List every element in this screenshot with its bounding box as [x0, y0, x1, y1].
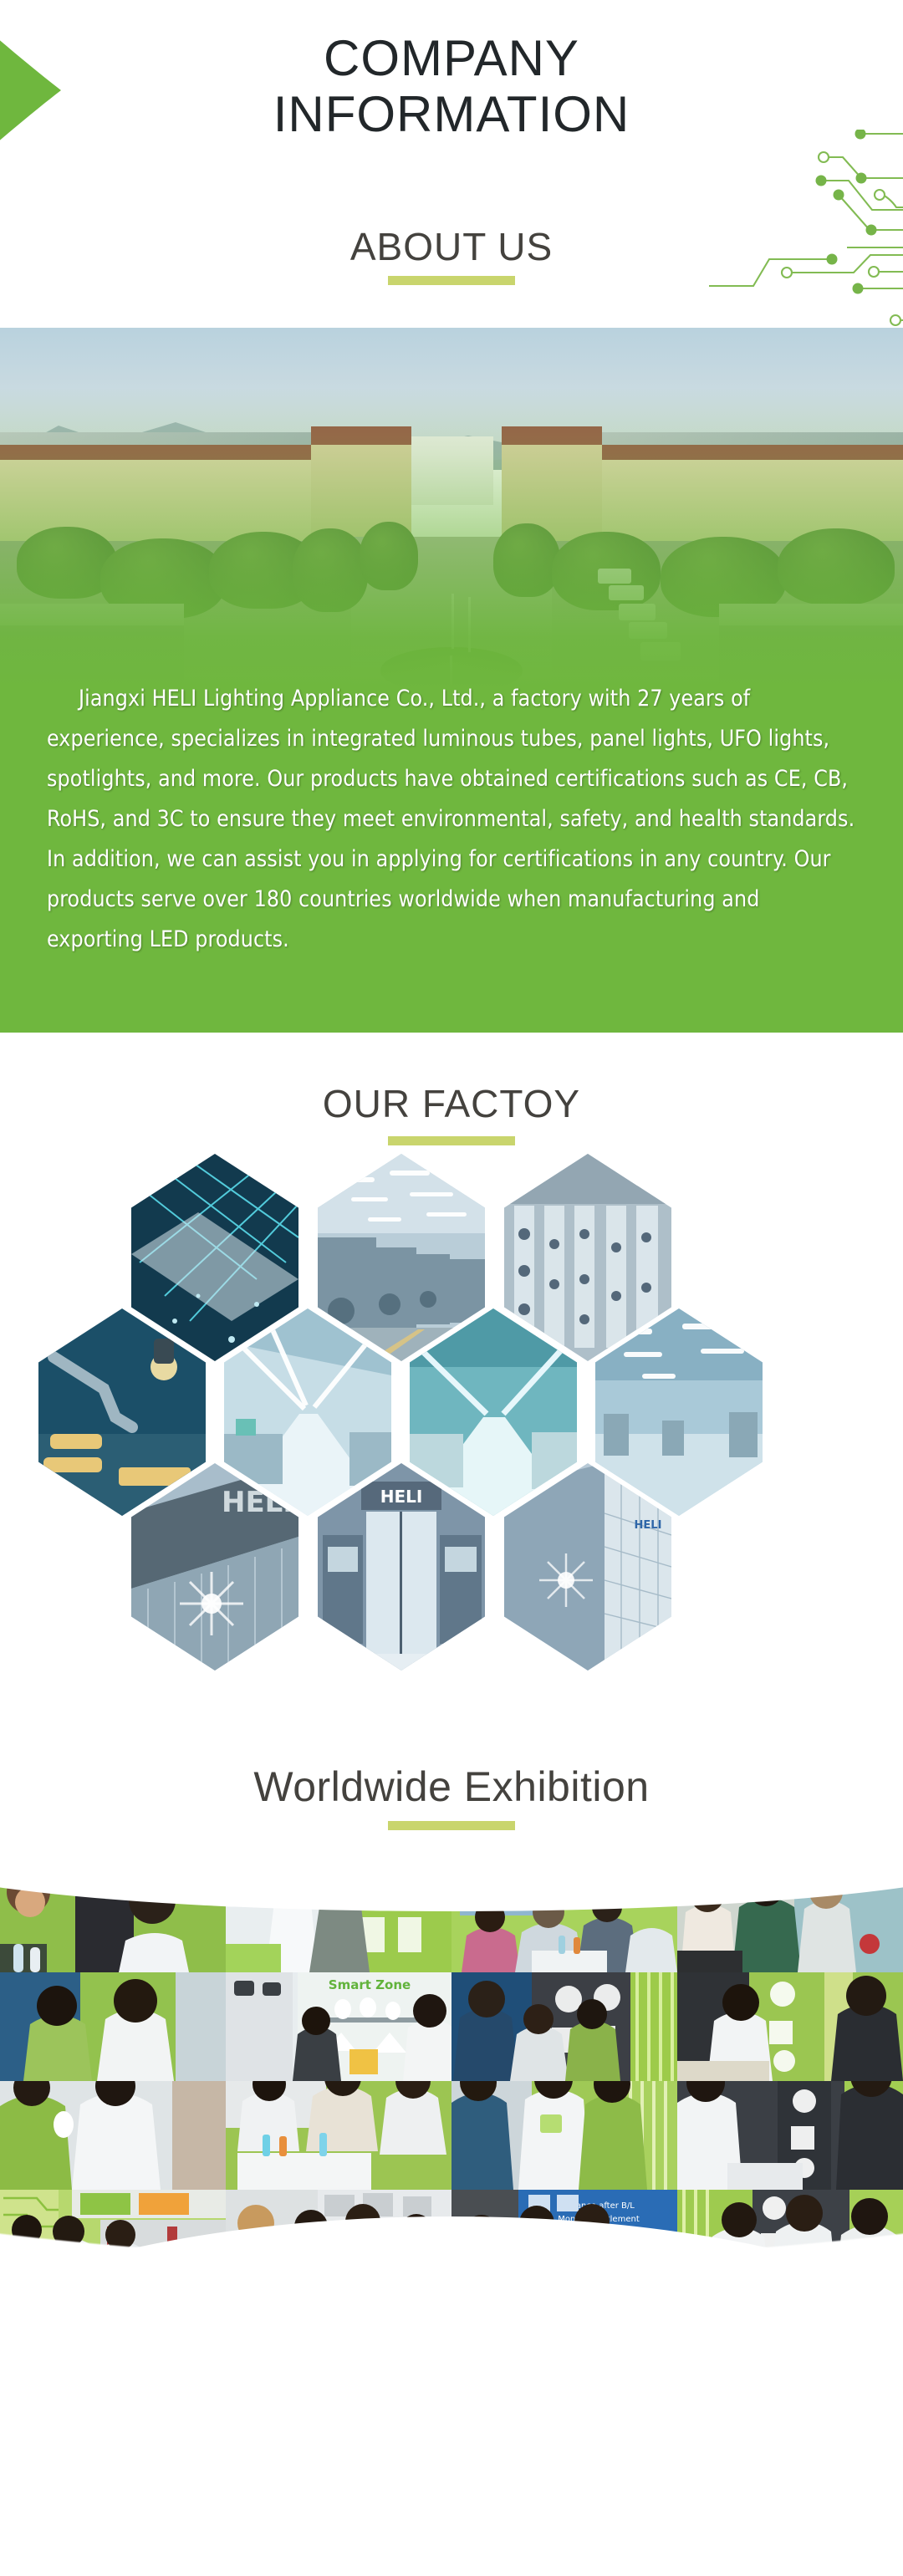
panel-light-wall-demo-image	[451, 1972, 677, 2081]
hex-tile-5[interactable]	[224, 1308, 391, 1516]
about-us-heading-text: ABOUT US	[0, 227, 903, 266]
hex-tile-4[interactable]	[38, 1308, 206, 1516]
exhibition-photo[interactable]	[0, 1972, 226, 2081]
exhibition-photo[interactable]: Smart Zone	[226, 1972, 451, 2081]
exhibition-photo[interactable]	[677, 2081, 903, 2190]
led-assembly-line-night-image	[131, 1154, 298, 1361]
page-title: COMPANY INFORMATION	[0, 30, 903, 142]
hex-tile-1[interactable]	[131, 1154, 298, 1361]
factory-heading-text: OUR FACTOY	[0, 1081, 903, 1126]
factory-heading: OUR FACTOY	[0, 1033, 903, 1145]
exhibition-section: Worldwide Exhibition	[0, 1754, 903, 2300]
exhibition-photo[interactable]	[677, 1972, 903, 2081]
exhibition-photo[interactable]	[0, 2081, 226, 2190]
booth-desk-discussion-image	[677, 1972, 903, 2081]
two-visitors-chatting-image	[0, 1972, 226, 2081]
hexagon-gallery: HELI HELI	[0, 1154, 903, 1706]
heli-office-building-sunflare-image: HELI	[131, 1463, 298, 1671]
exhibition-photo[interactable]	[451, 1972, 677, 2081]
page-header: COMPANY INFORMATION ABOUT US	[0, 0, 903, 328]
exhibition-gallery: Smart Zone	[0, 1864, 903, 2300]
sales-rep-with-customer-image	[677, 2081, 903, 2190]
bottom-arc-mask	[0, 2216, 903, 2576]
staff-showing-product-sample-image	[0, 2081, 226, 2190]
bright-assembly-corridor-image	[224, 1308, 391, 1516]
heli-logo-text: HELI	[635, 1519, 662, 1532]
hex-tile-8[interactable]: HELI	[131, 1463, 298, 1671]
page-title-line-2: INFORMATION	[0, 86, 903, 142]
accent-underline	[388, 1821, 515, 1830]
factory-section: OUR FACTOY	[0, 1033, 903, 1754]
page-title-line-1: COMPANY	[0, 30, 903, 86]
table-meeting-with-drinks-image	[226, 2081, 451, 2190]
robotic-arm-pcb-assembly-image	[38, 1308, 206, 1516]
accent-underline	[388, 276, 515, 285]
exhibition-heading-text: Worldwide Exhibition	[0, 1762, 903, 1811]
about-us-heading: ABOUT US	[0, 227, 903, 285]
exhibition-photo[interactable]	[451, 2081, 677, 2190]
accent-underline	[388, 1136, 515, 1145]
smart-zone-sign: Smart Zone	[329, 1977, 411, 1992]
about-paragraph: Jiangxi HELI Lighting Appliance Co., Ltd…	[47, 679, 856, 960]
exhibition-photo[interactable]	[226, 2081, 451, 2190]
exhibition-heading: Worldwide Exhibition	[0, 1754, 903, 1830]
heli-logo-text: HELI	[380, 1487, 423, 1507]
visitors-holding-brochure-image	[451, 2081, 677, 2190]
smart-zone-bulb-display-image: Smart Zone	[226, 1972, 451, 2081]
about-section: 江西合力照明科技有限公司 Jiangxi HELI Lighting Appli…	[0, 328, 903, 1033]
